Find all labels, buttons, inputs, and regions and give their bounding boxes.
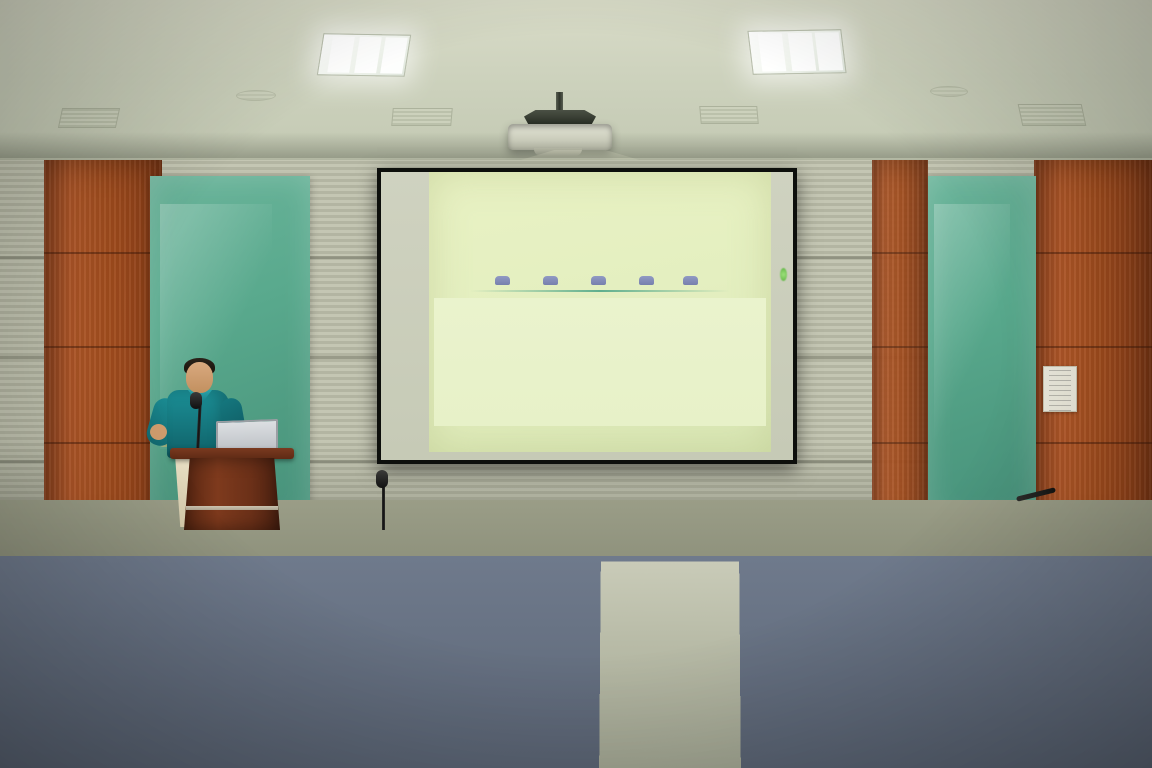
projection-screen bbox=[377, 168, 797, 464]
ceiling-vent-2 bbox=[391, 108, 453, 126]
presentation-slide bbox=[429, 172, 771, 452]
podium-microphone bbox=[190, 392, 202, 409]
presenter-head bbox=[186, 362, 213, 393]
epson-projector bbox=[508, 124, 612, 150]
slide-footer bbox=[429, 440, 771, 446]
screen-green-light-spot bbox=[780, 268, 787, 281]
slide-divider-rule bbox=[470, 290, 730, 292]
slide-icon-row bbox=[491, 276, 710, 286]
podium-top-surface bbox=[170, 448, 294, 459]
lecture-hall-photo bbox=[0, 0, 1152, 768]
screen-surface bbox=[381, 172, 793, 460]
presenter-left-hand bbox=[150, 424, 167, 440]
silk-road-map bbox=[434, 298, 766, 426]
ceiling-vent-1 bbox=[58, 108, 120, 128]
wall-notice-paper bbox=[1043, 366, 1077, 412]
ceiling-light-panel-right bbox=[747, 29, 846, 75]
projector-lens bbox=[534, 148, 582, 156]
slide-header bbox=[441, 182, 761, 185]
ceiling-vent-3 bbox=[699, 106, 759, 124]
ceiling-vent-4 bbox=[1018, 104, 1087, 126]
ceiling-light-panel-left bbox=[317, 33, 411, 77]
seating-area bbox=[0, 470, 1152, 768]
